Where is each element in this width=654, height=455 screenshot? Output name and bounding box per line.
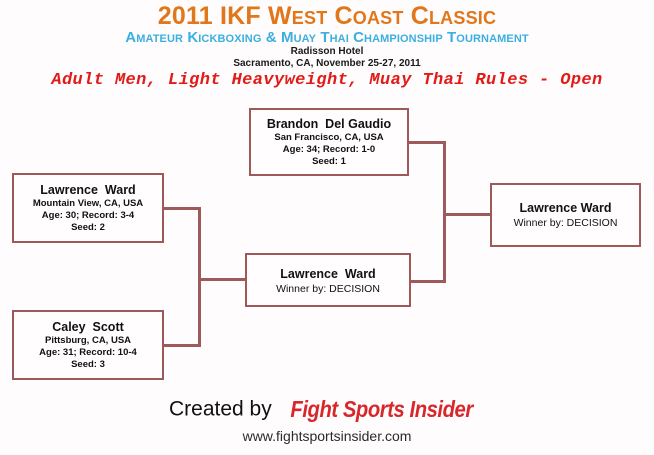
footer-url[interactable]: www.fightsportsinsider.com [0,428,654,444]
bracket-page: 2011 IKF West Coast Classic Amateur Kick… [0,0,654,455]
semifinal-winner-box[interactable]: Lawrence Ward Winner by: DECISION [245,253,411,307]
competitor-seed: Seed: 1 [251,156,407,168]
competitor-box-delgaudio[interactable]: Brandon Del Gaudio San Francisco, CA, US… [249,108,409,176]
brand-logo-text: Fight Sports Insider [290,396,472,423]
competitor-box-scott[interactable]: Caley Scott Pittsburg, CA, USA Age: 31; … [12,310,164,380]
competitor-seed: Seed: 3 [14,359,162,371]
event-subtitle: Amateur Kickboxing & Muay Thai Champions… [0,29,654,46]
competitor-box-ward[interactable]: Lawrence Ward Mountain View, CA, USA Age… [12,173,164,243]
competitor-age-record: Age: 30; Record: 3-4 [14,210,162,222]
competitor-hometown: San Francisco, CA, USA [251,132,407,144]
semifinal-winner-name: Lawrence Ward [247,267,409,282]
connector-scott-out [164,344,201,347]
event-title: 2011 IKF West Coast Classic [0,2,654,30]
champion-result: Winner by: DECISION [492,216,639,230]
event-division: Adult Men, Light Heavyweight, Muay Thai … [0,70,654,91]
competitor-name: Brandon Del Gaudio [251,117,407,132]
connector-ward-out [164,207,201,210]
competitor-hometown: Mountain View, CA, USA [14,198,162,210]
connector-r1-vertical [198,207,201,347]
champion-name: Lawrence Ward [492,201,639,216]
connector-r1-to-semi [198,278,247,281]
connector-final-vertical [443,141,446,283]
connector-semi-out [409,280,446,283]
competitor-name: Caley Scott [14,320,162,335]
semifinal-winner-result: Winner by: DECISION [247,282,409,296]
event-venue: Radisson Hotel [0,46,654,58]
competitor-age-record: Age: 31; Record: 10-4 [14,347,162,359]
competitor-hometown: Pittsburg, CA, USA [14,335,162,347]
competitor-name: Lawrence Ward [14,183,162,198]
champion-box[interactable]: Lawrence Ward Winner by: DECISION [490,183,641,247]
competitor-seed: Seed: 2 [14,222,162,234]
connector-delgaudio-out [407,141,446,144]
competitor-age-record: Age: 34; Record: 1-0 [251,144,407,156]
event-date-city: Sacramento, CA, November 25-27, 2011 [0,58,654,70]
footer-credit: Created byFight Sports Insider [0,396,654,423]
created-by-label: Created by [169,398,272,421]
connector-final-to-champion [443,213,492,216]
